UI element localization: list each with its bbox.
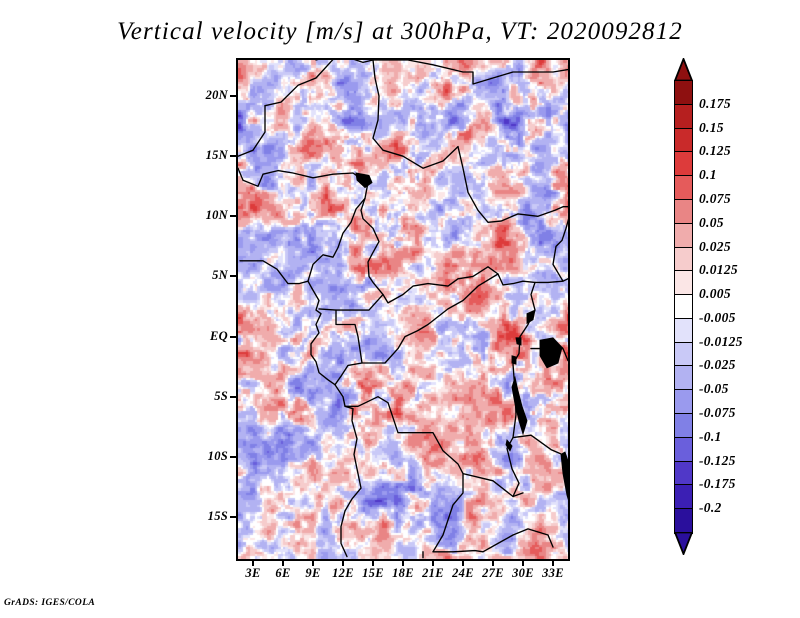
colorbar-tick-label: -0.05 (699, 381, 729, 397)
y-axis-label: 5S (168, 389, 228, 404)
colorbar (674, 58, 693, 554)
y-axis-label: 10S (168, 449, 228, 464)
colorbar-swatch (674, 461, 693, 486)
x-axis-tick (402, 560, 404, 566)
y-axis-tick (230, 396, 236, 398)
colorbar-swatch (674, 437, 693, 462)
y-axis-tick (230, 456, 236, 458)
colorbar-tick-label: 0.005 (699, 286, 731, 302)
colorbar-swatch (674, 342, 693, 367)
y-axis-tick (230, 95, 236, 97)
colorbar-swatch (674, 270, 693, 295)
y-axis-label: 15N (168, 148, 228, 163)
x-axis-tick (372, 560, 374, 566)
y-axis-label: EQ (168, 329, 228, 344)
x-axis-label: 33E (533, 566, 573, 581)
y-axis-tick (230, 516, 236, 518)
colorbar-cap-top (674, 58, 693, 80)
colorbar-swatch (674, 104, 693, 129)
y-axis-tick (230, 275, 236, 277)
colorbar-swatch (674, 484, 693, 509)
y-axis-label: 20N (168, 88, 228, 103)
colorbar-cap-bottom (674, 532, 693, 554)
x-axis-tick (432, 560, 434, 566)
colorbar-swatch (674, 413, 693, 438)
colorbar-tick-label: -0.005 (699, 310, 736, 326)
y-axis-tick (230, 155, 236, 157)
y-axis-label: 15S (168, 509, 228, 524)
colorbar-swatch (674, 128, 693, 153)
x-axis-tick (552, 560, 554, 566)
colorbar-swatch (674, 223, 693, 248)
colorbar-tick-label: 0.1 (699, 167, 717, 183)
colorbar-tick-label: 0.05 (699, 215, 724, 231)
x-axis-tick (342, 560, 344, 566)
grads-credit: GrADS: IGES/COLA (4, 598, 95, 608)
colorbar-tick-label: 0.15 (699, 120, 724, 136)
colorbar-swatch (674, 80, 693, 105)
colorbar-swatch (674, 318, 693, 343)
colorbar-swatch (674, 247, 693, 272)
colorbar-tick-label: -0.1 (699, 429, 722, 445)
colorbar-swatch (674, 151, 693, 176)
x-axis-tick (252, 560, 254, 566)
colorbar-tick-label: -0.2 (699, 500, 722, 516)
colorbar-swatch (674, 508, 693, 533)
colorbar-tick-label: -0.0125 (699, 334, 743, 350)
colorbar-tick-label: -0.125 (699, 453, 736, 469)
y-axis-label: 5N (168, 268, 228, 283)
colorbar-tick-label: 0.125 (699, 143, 731, 159)
colorbar-tick-label: -0.075 (699, 405, 736, 421)
colorbar-swatch (674, 294, 693, 319)
x-axis-tick (462, 560, 464, 566)
colorbar-swatch (674, 199, 693, 224)
colorbar-swatch (674, 365, 693, 390)
colorbar-tick-label: 0.075 (699, 191, 731, 207)
x-axis-tick (282, 560, 284, 566)
y-axis-label: 10N (168, 208, 228, 223)
y-axis-tick (230, 336, 236, 338)
x-axis-tick (492, 560, 494, 566)
colorbar-swatch (674, 389, 693, 414)
colorbar-tick-label: 0.025 (699, 239, 731, 255)
y-axis-tick (230, 215, 236, 217)
colorbar-tick-label: 0.0125 (699, 262, 738, 278)
colorbar-swatch (674, 175, 693, 200)
x-axis-tick (522, 560, 524, 566)
colorbar-tick-label: -0.175 (699, 476, 736, 492)
x-axis-tick (312, 560, 314, 566)
colorbar-tick-label: -0.025 (699, 357, 736, 373)
colorbar-tick-label: 0.175 (699, 96, 731, 112)
